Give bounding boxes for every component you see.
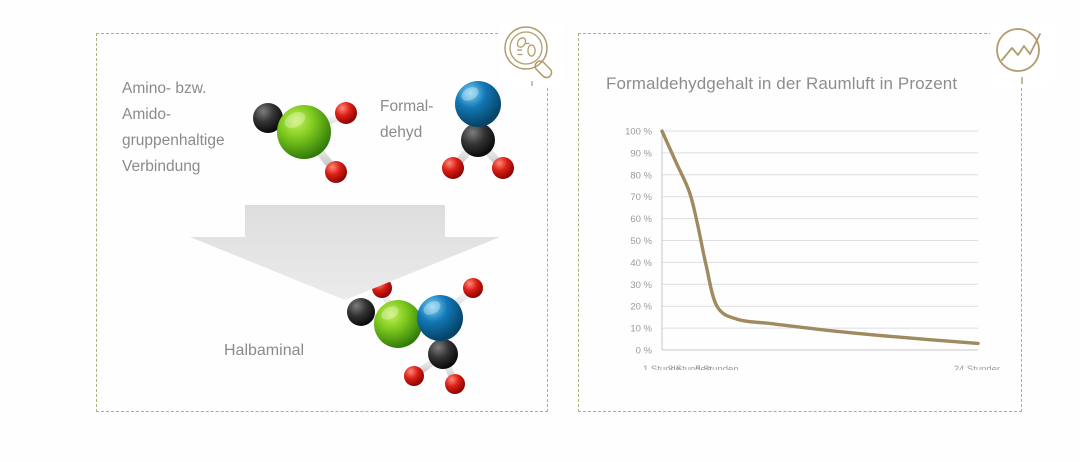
svg-text:10 %: 10 %: [630, 324, 652, 335]
svg-text:24 Stunden: 24 Stunden: [954, 364, 1000, 370]
down-arrow-icon: [190, 205, 500, 300]
svg-text:90 %: 90 %: [630, 148, 652, 159]
svg-text:60 %: 60 %: [630, 214, 652, 225]
amino-compound-molecule: [238, 80, 368, 190]
svg-text:0 %: 0 %: [636, 346, 653, 357]
svg-text:30 %: 30 %: [630, 280, 652, 291]
formaldehyde-molecule: [436, 70, 520, 188]
svg-text:20 %: 20 %: [630, 302, 652, 313]
svg-text:50 %: 50 %: [630, 236, 652, 247]
chart-title: Formaldehydgehalt in der Raumluft in Pro…: [606, 74, 957, 94]
chart-series-line: [662, 131, 978, 343]
line-chart: 100 %90 %80 %70 %60 %50 %40 %30 %20 %10 …: [600, 120, 1000, 370]
svg-text:70 %: 70 %: [630, 192, 652, 203]
trend-chart-icon: [990, 22, 1054, 86]
svg-text:5 Stunden: 5 Stunden: [695, 364, 738, 370]
svg-text:40 %: 40 %: [630, 258, 652, 269]
chart-plot-area: 100 %90 %80 %70 %60 %50 %40 %30 %20 %10 …: [600, 120, 1000, 370]
svg-text:100 %: 100 %: [625, 127, 652, 138]
svg-text:80 %: 80 %: [630, 170, 652, 181]
screenshot-root: Amino- bzw. Amido- gruppenhaltige Verbin…: [0, 0, 1080, 462]
